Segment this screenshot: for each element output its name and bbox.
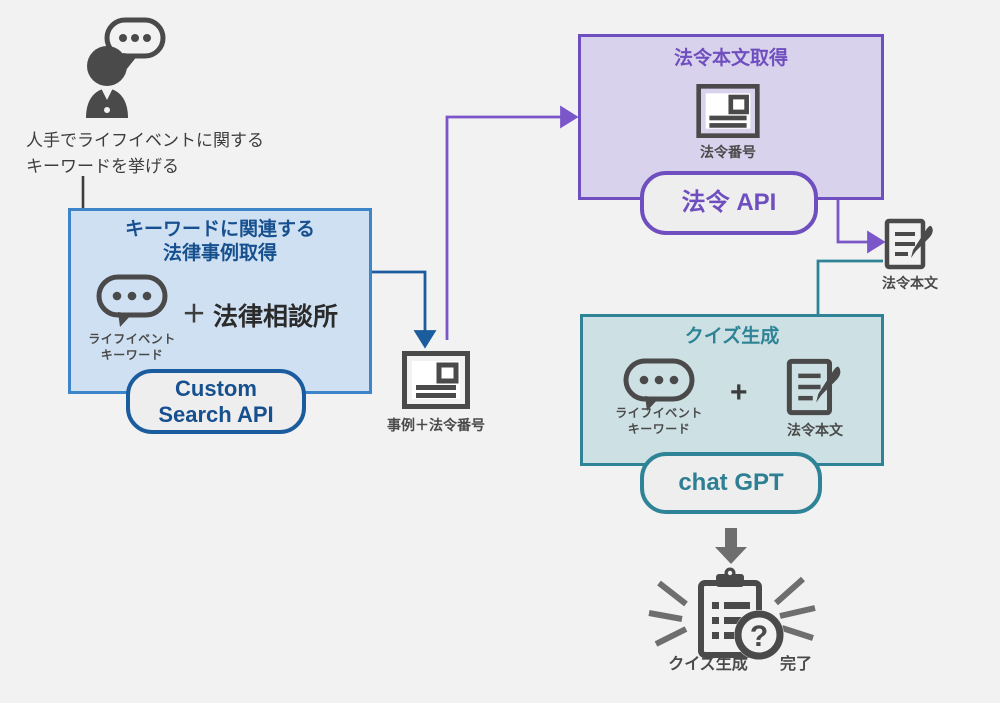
case-artifact-caption: 事例＋法令番号 [376,416,496,434]
law-api-pill[interactable]: 法令 API [640,171,818,235]
blue-group-plus-sign: ＋ [182,303,206,327]
person-with-speech-bubble-icon [76,14,168,118]
blue-group-inline-label: 法律相談所 [213,305,338,330]
chat-gpt-pill[interactable]: chat GPT [640,452,822,514]
document-card-icon [402,351,470,409]
speech-bubble-icon [623,358,695,412]
down-block-arrow-icon [714,528,748,564]
purple-group-title: 法令本文取得 [578,47,884,71]
teal-group-right-icon-caption: 法令本文 [767,421,863,439]
document-with-pen-icon [884,218,936,270]
connector-case-to-purple [447,117,573,340]
svg-text:?: ? [750,620,768,653]
result-caption-right: 完了 [766,655,826,676]
clipboard-question-icon: ? [640,566,822,662]
teal-group-plus-sign: + [730,378,748,408]
human-step-text: 人手でライフイベントに関する キーワードを挙げる [26,128,326,179]
blue-group-title: キーワードに関連する 法律事例取得 [68,218,372,266]
custom-search-api-pill[interactable]: Custom Search API [126,369,306,434]
teal-group-title: クイズ生成 [580,325,884,349]
result-caption-left: クイズ生成 [640,655,776,676]
speech-bubble-icon [96,274,168,328]
teal-group-left-icon-caption: ライフイベント キーワード [609,406,709,437]
document-card-icon [696,84,760,138]
blue-group-icon-caption: ライフイベント キーワード [82,332,182,363]
connector-blue-to-case [372,272,425,343]
document-with-pen-icon [786,358,844,416]
purple-group-icon-caption: 法令番号 [678,143,778,161]
diagram-canvas: 人手でライフイベントに関する キーワードを挙げる キーワードに関連する 法律事例… [0,0,1000,703]
law-text-artifact-caption: 法令本文 [862,274,958,292]
